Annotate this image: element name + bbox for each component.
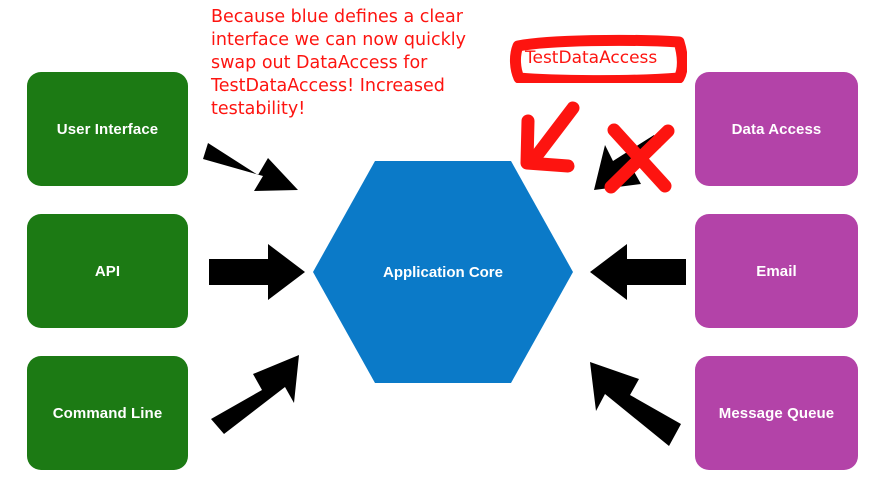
arrow-core-to-message-queue	[590, 362, 681, 446]
arrow-api-to-core	[209, 244, 305, 300]
annotation-line-2: interface we can now quickly	[211, 29, 493, 52]
annotation-text: Because blue defines a clear interface w…	[211, 6, 493, 121]
annotation-line-3: swap out DataAccess for	[211, 52, 493, 75]
annotation-line-5: testability!	[211, 98, 493, 121]
node-data-access[interactable]: Data Access	[695, 72, 858, 186]
node-message-queue[interactable]: Message Queue	[695, 356, 858, 470]
node-command-line[interactable]: Command Line	[27, 356, 188, 470]
node-message-queue-label: Message Queue	[719, 405, 835, 422]
arrow-command-line-to-core	[211, 355, 299, 434]
node-email[interactable]: Email	[695, 214, 858, 328]
hexagon-shape	[313, 161, 573, 383]
arrow-core-to-data-access	[594, 135, 661, 190]
node-api-label: API	[95, 263, 120, 280]
node-user-interface[interactable]: User Interface	[27, 72, 188, 186]
arrow-user-interface-to-core	[203, 143, 298, 191]
annotation-line-4: TestDataAccess! Increased	[211, 75, 493, 98]
diagram-canvas: User Interface API Command Line Data Acc…	[0, 0, 880, 488]
application-core-hexagon[interactable]: Application Core	[313, 161, 573, 383]
node-api[interactable]: API	[27, 214, 188, 328]
callout-label-wrap: TestDataAccess	[509, 33, 687, 83]
node-email-label: Email	[756, 263, 797, 280]
node-command-line-label: Command Line	[53, 405, 163, 422]
arrow-core-to-email	[590, 244, 686, 300]
annotation-line-1: Because blue defines a clear	[211, 6, 493, 29]
red-replacement-arrow	[527, 108, 573, 166]
red-cross-out-mark	[611, 130, 668, 187]
node-data-access-label: Data Access	[732, 121, 822, 138]
test-data-access-callout[interactable]: TestDataAccess	[509, 33, 687, 83]
test-data-access-label: TestDataAccess	[525, 48, 657, 68]
node-user-interface-label: User Interface	[57, 121, 158, 138]
